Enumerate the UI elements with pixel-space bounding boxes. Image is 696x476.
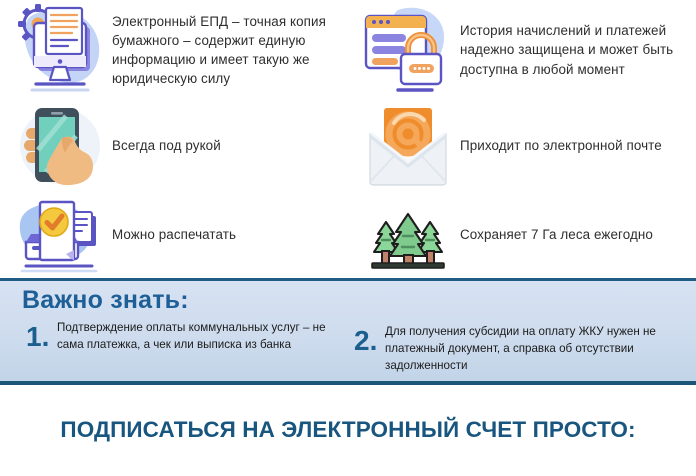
browser-padlock-icon	[356, 0, 460, 100]
note-text: Для получения субсидии на оплату ЖКУ нуж…	[385, 317, 688, 374]
note-number: 2.	[354, 327, 378, 355]
footer-title: ПОДПИСАТЬСЯ НА ЭЛЕКТРОННЫЙ СЧЕТ ПРОСТО:	[0, 417, 696, 443]
benefit-item: Всегда под рукой	[0, 100, 348, 192]
note-text: Подтверждение оплаты коммунальных услуг …	[57, 317, 340, 353]
benefit-text: Приходит по электронной почте	[460, 136, 690, 155]
benefit-text: Всегда под рукой	[112, 136, 342, 155]
printed-document-check-icon	[8, 192, 112, 278]
monitor-document-gear-icon	[8, 0, 112, 100]
benefit-text: История начислений и платежей надежно за…	[460, 21, 690, 78]
important-to-know-section: Важно знать: 1. Подтверждение оплаты ком…	[0, 278, 696, 385]
benefit-text: Сохраняет 7 Га леса ежегодно	[460, 225, 690, 244]
pine-trees-icon	[356, 192, 460, 278]
benefit-item: Электронный ЕПД – точная копия бумажного…	[0, 0, 348, 100]
section-title: Важно знать:	[22, 286, 189, 315]
benefit-item: Приходит по электронной почте	[348, 100, 696, 192]
benefits-grid: Электронный ЕПД – точная копия бумажного…	[0, 0, 696, 278]
benefit-item: Сохраняет 7 Га леса ежегодно	[348, 192, 696, 278]
important-note: 1. Подтверждение оплаты коммунальных усл…	[0, 317, 348, 374]
benefit-item: Можно распечатать	[0, 192, 348, 278]
important-note: 2. Для получения субсидии на оплату ЖКУ …	[348, 317, 696, 374]
benefit-text: Можно распечатать	[112, 225, 342, 244]
footer-section: ПОДПИСАТЬСЯ НА ЭЛЕКТРОННЫЙ СЧЕТ ПРОСТО:	[0, 385, 696, 476]
note-number: 1.	[26, 323, 50, 351]
benefit-item: История начислений и платежей надежно за…	[348, 0, 696, 100]
important-notes-list: 1. Подтверждение оплаты коммунальных усл…	[0, 317, 696, 374]
benefit-text: Электронный ЕПД – точная копия бумажного…	[112, 12, 342, 88]
envelope-at-sign-icon	[356, 100, 460, 192]
hand-smartphone-icon	[8, 100, 112, 192]
infographic-page: Электронный ЕПД – точная копия бумажного…	[0, 0, 696, 476]
